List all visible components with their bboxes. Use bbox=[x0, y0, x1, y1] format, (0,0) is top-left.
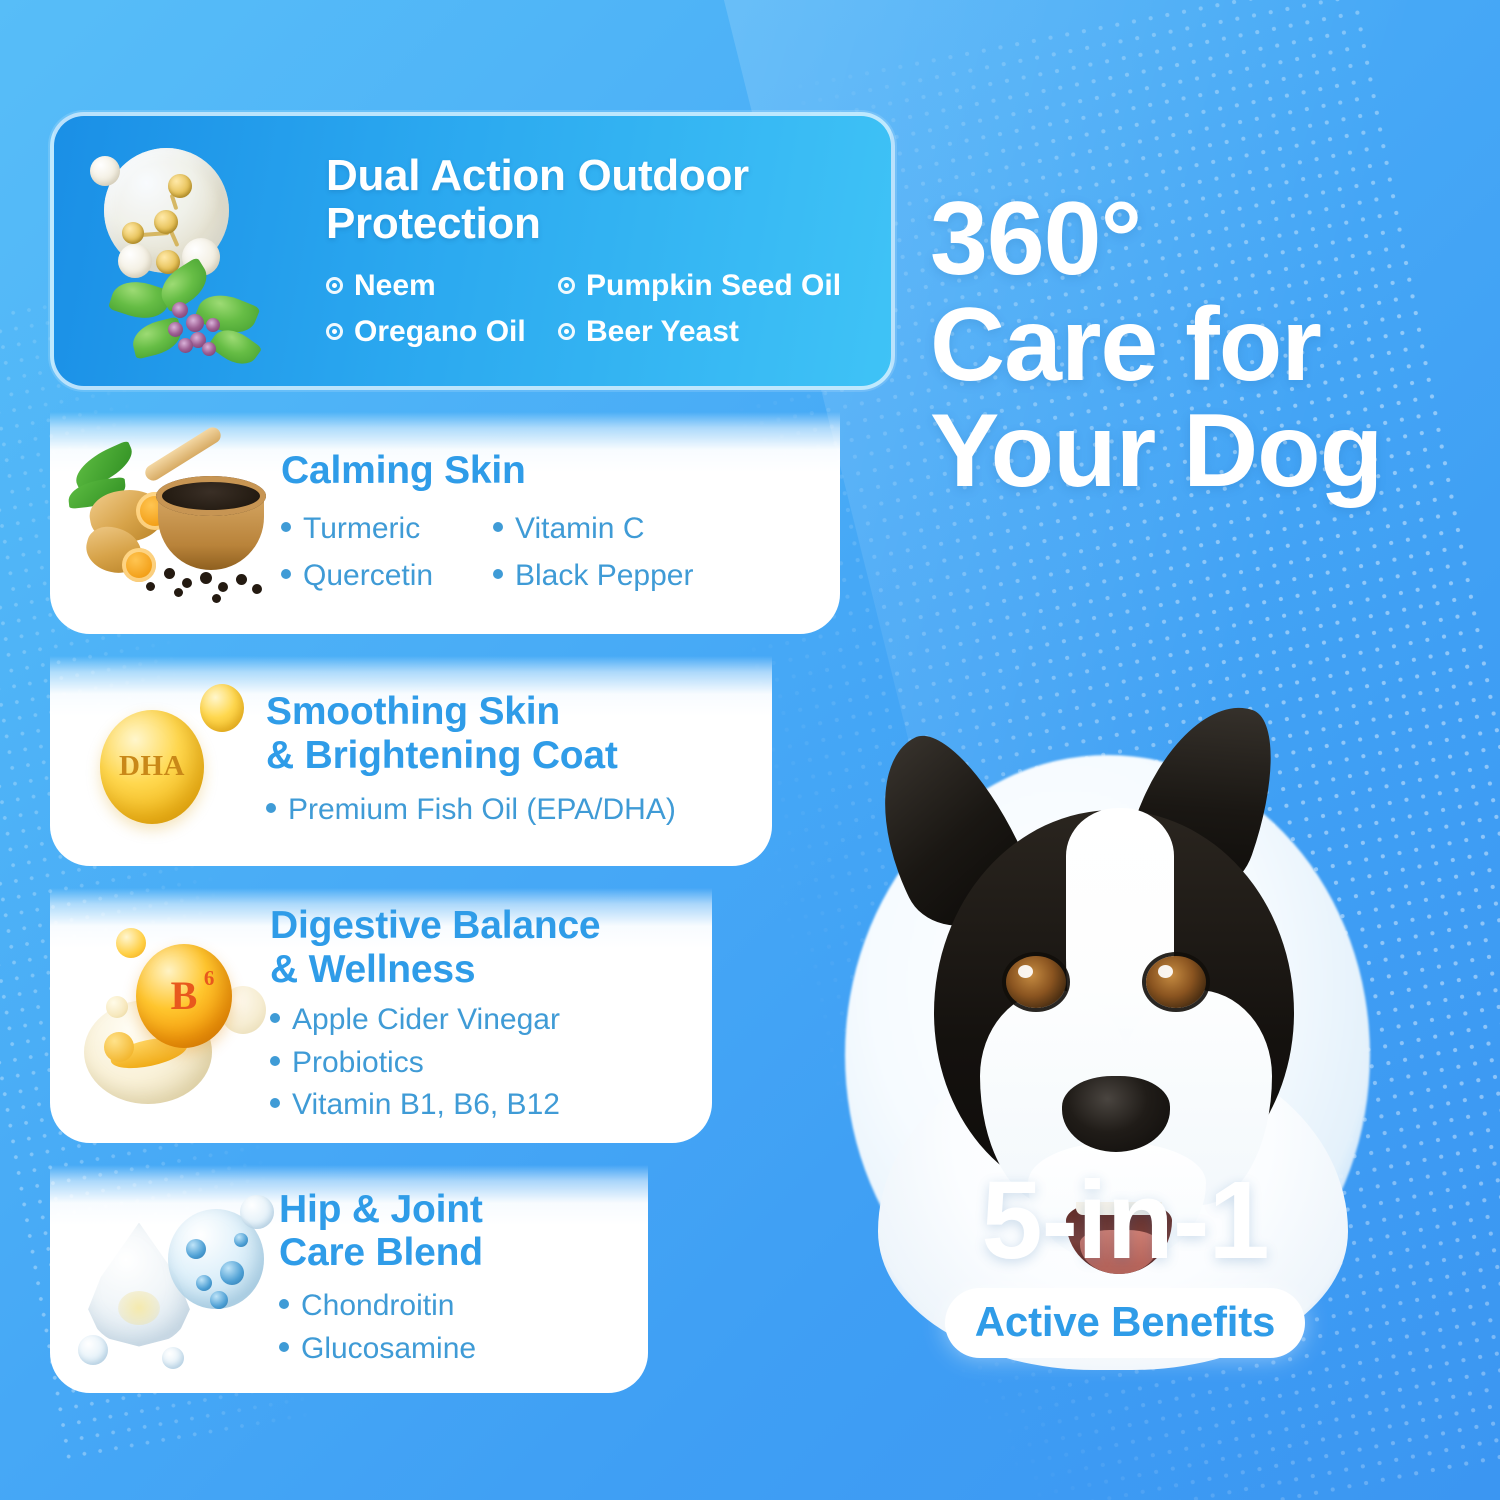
ring-bullet-icon bbox=[326, 277, 343, 294]
active-benefits-badge: 5-in-1 Active Benefits bbox=[900, 1168, 1350, 1358]
ring-bullet-icon bbox=[558, 323, 575, 340]
list-item-label: Quercetin bbox=[303, 555, 433, 598]
card-title-line2: Protection bbox=[326, 199, 541, 248]
card-title-line1: Calming Skin bbox=[281, 449, 526, 492]
list-item: Quercetin bbox=[281, 555, 493, 598]
list-item: Neem bbox=[326, 268, 558, 304]
list-item-label: Glucosamine bbox=[301, 1328, 476, 1371]
headline-line2: Care for bbox=[930, 292, 1490, 398]
feature-card-smoothing-skin-brightening-coat[interactable]: DHA Smoothing Skin & Brightening Coat Pr… bbox=[50, 656, 772, 866]
ingredient-list: Chondroitin Glucosamine bbox=[279, 1285, 632, 1370]
dot-bullet-icon bbox=[270, 1056, 280, 1066]
badge-label: Active Benefits bbox=[945, 1288, 1305, 1358]
list-item-label: Pumpkin Seed Oil bbox=[586, 268, 841, 304]
list-item-label: Beer Yeast bbox=[586, 314, 739, 350]
list-item: Premium Fish Oil (EPA/DHA) bbox=[266, 789, 756, 832]
card-title: Hip & Joint Care Blend bbox=[279, 1188, 632, 1275]
capsule-label: DHA bbox=[119, 750, 185, 783]
card-title-line1: Smoothing Skin bbox=[266, 690, 560, 733]
list-item: Glucosamine bbox=[279, 1328, 632, 1371]
list-item: Beer Yeast bbox=[558, 314, 865, 350]
feature-card-digestive-balance-wellness[interactable]: B6 Digestive Balance & Wellness Apple Ci… bbox=[50, 888, 712, 1143]
vitamin-b6-capsule-icon: B6 bbox=[70, 916, 270, 1116]
list-item: Turmeric bbox=[281, 508, 493, 551]
list-item: Chondroitin bbox=[279, 1285, 632, 1328]
dot-bullet-icon bbox=[493, 569, 503, 579]
b6-label: B6 bbox=[171, 972, 198, 1019]
dha-capsule-icon: DHA bbox=[76, 674, 266, 849]
card-title: Digestive Balance & Wellness bbox=[270, 904, 696, 991]
list-item-label: Oregano Oil bbox=[354, 314, 526, 350]
list-item: Vitamin B1, B6, B12 bbox=[270, 1084, 696, 1127]
oregano-molecule-bubble-icon bbox=[66, 126, 316, 376]
list-item-label: Premium Fish Oil (EPA/DHA) bbox=[288, 789, 676, 832]
ingredient-list: Neem Pumpkin Seed Oil Oregano Oil B bbox=[326, 268, 865, 350]
ingredient-list: Premium Fish Oil (EPA/DHA) bbox=[266, 789, 756, 832]
list-item: Probiotics bbox=[270, 1042, 696, 1085]
list-item-label: Vitamin B1, B6, B12 bbox=[292, 1084, 560, 1127]
card-title-line2: & Brightening Coat bbox=[266, 734, 618, 777]
water-drop-bubble-icon bbox=[64, 1187, 279, 1372]
card-title-line2: & Wellness bbox=[270, 948, 475, 991]
dot-bullet-icon bbox=[281, 569, 291, 579]
feature-card-calming-skin[interactable]: Calming Skin Turmeric Vitamin C bbox=[50, 412, 840, 634]
list-item-label: Neem bbox=[354, 268, 436, 304]
turmeric-black-pepper-icon bbox=[66, 436, 281, 611]
dot-bullet-icon bbox=[281, 522, 291, 532]
page-title: 360° Care for Your Dog bbox=[930, 186, 1490, 504]
dot-bullet-icon bbox=[270, 1013, 280, 1023]
headline-line1: 360° bbox=[930, 186, 1490, 292]
badge-number: 5-in-1 bbox=[900, 1168, 1350, 1274]
list-item-label: Turmeric bbox=[303, 508, 420, 551]
list-item-label: Apple Cider Vinegar bbox=[292, 999, 560, 1042]
card-title: Dual Action Outdoor Protection bbox=[326, 152, 865, 247]
list-item: Oregano Oil bbox=[326, 314, 558, 350]
card-title-line2: Care Blend bbox=[279, 1231, 483, 1274]
list-item: Vitamin C bbox=[493, 508, 824, 551]
list-item-label: Probiotics bbox=[292, 1042, 424, 1085]
list-item-label: Vitamin C bbox=[515, 508, 645, 551]
feature-card-hip-joint-care-blend[interactable]: Hip & Joint Care Blend Chondroitin Gluco… bbox=[50, 1165, 648, 1393]
card-title: Calming Skin bbox=[281, 449, 824, 493]
card-title-line1: Dual Action Outdoor bbox=[326, 151, 749, 200]
headline-line3: Your Dog bbox=[930, 398, 1490, 504]
list-item: Black Pepper bbox=[493, 555, 824, 598]
dot-bullet-icon bbox=[270, 1098, 280, 1108]
card-title-line1: Hip & Joint bbox=[279, 1188, 483, 1231]
b6-superscript: 6 bbox=[204, 966, 215, 991]
dot-bullet-icon bbox=[279, 1342, 289, 1352]
dot-bullet-icon bbox=[266, 803, 276, 813]
card-title-line1: Digestive Balance bbox=[270, 904, 600, 947]
card-title: Smoothing Skin & Brightening Coat bbox=[266, 690, 756, 777]
list-item-label: Black Pepper bbox=[515, 555, 693, 598]
infographic-canvas: Dual Action Outdoor Protection Neem Pump… bbox=[0, 0, 1500, 1500]
list-item-label: Chondroitin bbox=[301, 1285, 454, 1328]
ingredient-list: Apple Cider Vinegar Probiotics Vitamin B… bbox=[270, 999, 696, 1127]
feature-card-dual-action-outdoor-protection[interactable]: Dual Action Outdoor Protection Neem Pump… bbox=[50, 112, 895, 390]
ring-bullet-icon bbox=[558, 277, 575, 294]
ingredient-list: Turmeric Vitamin C Quercetin Black bbox=[281, 508, 824, 597]
list-item: Apple Cider Vinegar bbox=[270, 999, 696, 1042]
list-item: Pumpkin Seed Oil bbox=[558, 268, 865, 304]
dot-bullet-icon bbox=[279, 1299, 289, 1309]
feature-card-list: Dual Action Outdoor Protection Neem Pump… bbox=[50, 112, 910, 1415]
dot-bullet-icon bbox=[493, 522, 503, 532]
ring-bullet-icon bbox=[326, 323, 343, 340]
